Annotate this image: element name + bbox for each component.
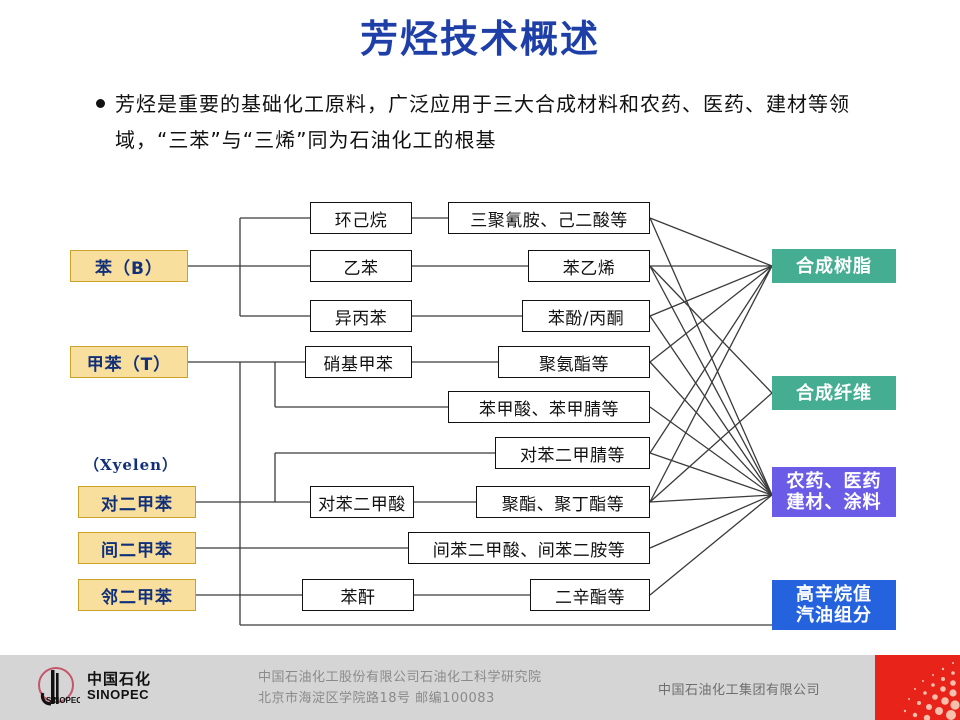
product-box-styrene[interactable]: 苯乙烯 (528, 250, 650, 282)
footer-red-halftone-graphic (875, 655, 960, 720)
intermediate-box-ethylbenzene[interactable]: 乙苯 (310, 250, 412, 282)
sinopec-wordmark: 中国石化 SINOPEC (87, 672, 151, 701)
source-box-m-xylene[interactable]: 间二甲苯 (78, 532, 196, 564)
source-box-p-xylene[interactable]: 对二甲苯 (78, 486, 196, 518)
product-box-benzoic-acid-benzonitrile[interactable]: 苯甲酸、苯甲腈等 (448, 391, 650, 423)
enduse-label-line1: 农药、医药 (787, 471, 882, 492)
intermediate-box-cyclohexane[interactable]: 环己烷 (310, 202, 412, 234)
aromatics-flow-diagram: 苯（B） 甲苯（T） （Xyelen） 对二甲苯 间二甲苯 邻二甲苯 环己烷 乙… (0, 190, 960, 640)
bullet-dot-icon (96, 99, 105, 108)
bullet-paragraph: 芳烃是重要的基础化工原料，广泛应用于三大合成材料和农药、医药、建材等领域，“三苯… (96, 86, 896, 158)
product-box-phenol-acetone[interactable]: 苯酚/丙酮 (522, 300, 650, 332)
enduse-box-high-octane-gasoline[interactable]: 高辛烷值 汽油组分 (772, 580, 896, 630)
xylene-group-label: （Xyelen） (84, 454, 178, 475)
product-box-isophthalic-acid-phenylenediamine[interactable]: 间苯二甲酸、间苯二胺等 (408, 532, 650, 564)
product-box-melamine-adipic-acid[interactable]: 三聚氰胺、己二酸等 (448, 202, 650, 234)
intermediate-box-cumene[interactable]: 异丙苯 (310, 300, 412, 332)
product-box-polyester[interactable]: 聚酯、聚丁酯等 (476, 486, 650, 518)
enduse-label-line1: 高辛烷值 (796, 584, 872, 605)
bullet-text: 芳烃是重要的基础化工原料，广泛应用于三大合成材料和农药、医药、建材等领域，“三苯… (115, 86, 896, 158)
enduse-label-line2: 建材、涂料 (787, 492, 882, 513)
source-box-o-xylene[interactable]: 邻二甲苯 (78, 579, 196, 611)
intermediate-box-phthalic-anhydride[interactable]: 苯酐 (302, 579, 414, 611)
enduse-box-synthetic-fiber[interactable]: 合成纤维 (772, 376, 896, 410)
svg-text:SINOPEC: SINOPEC (46, 696, 80, 705)
product-box-polyurethane[interactable]: 聚氨酯等 (498, 346, 650, 378)
footer-address-line1: 中国石油化工股份有限公司石油化工科学研究院 (258, 667, 542, 688)
footer-bar: SINOPEC 中国石化 SINOPEC 中国石油化工股份有限公司石油化工科学研… (0, 655, 960, 720)
intermediate-box-terephthalic-acid[interactable]: 对苯二甲酸 (310, 486, 414, 518)
sinopec-mark-icon: SINOPEC (32, 663, 80, 711)
enduse-label-line2: 汽油组分 (796, 605, 872, 626)
logo-english-name: SINOPEC (87, 688, 151, 702)
logo-chinese-name: 中国石化 (87, 672, 151, 688)
slide-canvas: 芳烃技术概述 芳烃是重要的基础化工原料，广泛应用于三大合成材料和农药、医药、建材… (0, 0, 960, 720)
footer-address-line2: 北京市海淀区学院路18号 邮编100083 (258, 688, 542, 709)
page-title: 芳烃技术概述 (0, 8, 960, 63)
enduse-box-synthetic-resin[interactable]: 合成树脂 (772, 249, 896, 283)
source-box-toluene[interactable]: 甲苯（T） (70, 346, 188, 378)
product-box-terephthalonitrile[interactable]: 对苯二甲腈等 (495, 437, 650, 469)
sinopec-logo: SINOPEC 中国石化 SINOPEC (32, 663, 151, 711)
intermediate-box-nitrotoluene[interactable]: 硝基甲苯 (305, 346, 412, 378)
enduse-box-agro-pharma-construction-coating[interactable]: 农药、医药 建材、涂料 (772, 467, 896, 517)
source-box-benzene[interactable]: 苯（B） (70, 250, 188, 282)
footer-address: 中国石油化工股份有限公司石油化工科学研究院 北京市海淀区学院路18号 邮编100… (258, 667, 542, 709)
footer-group-name: 中国石油化工集团有限公司 (658, 679, 820, 698)
product-box-dioctyl-ester[interactable]: 二辛酯等 (530, 579, 650, 611)
